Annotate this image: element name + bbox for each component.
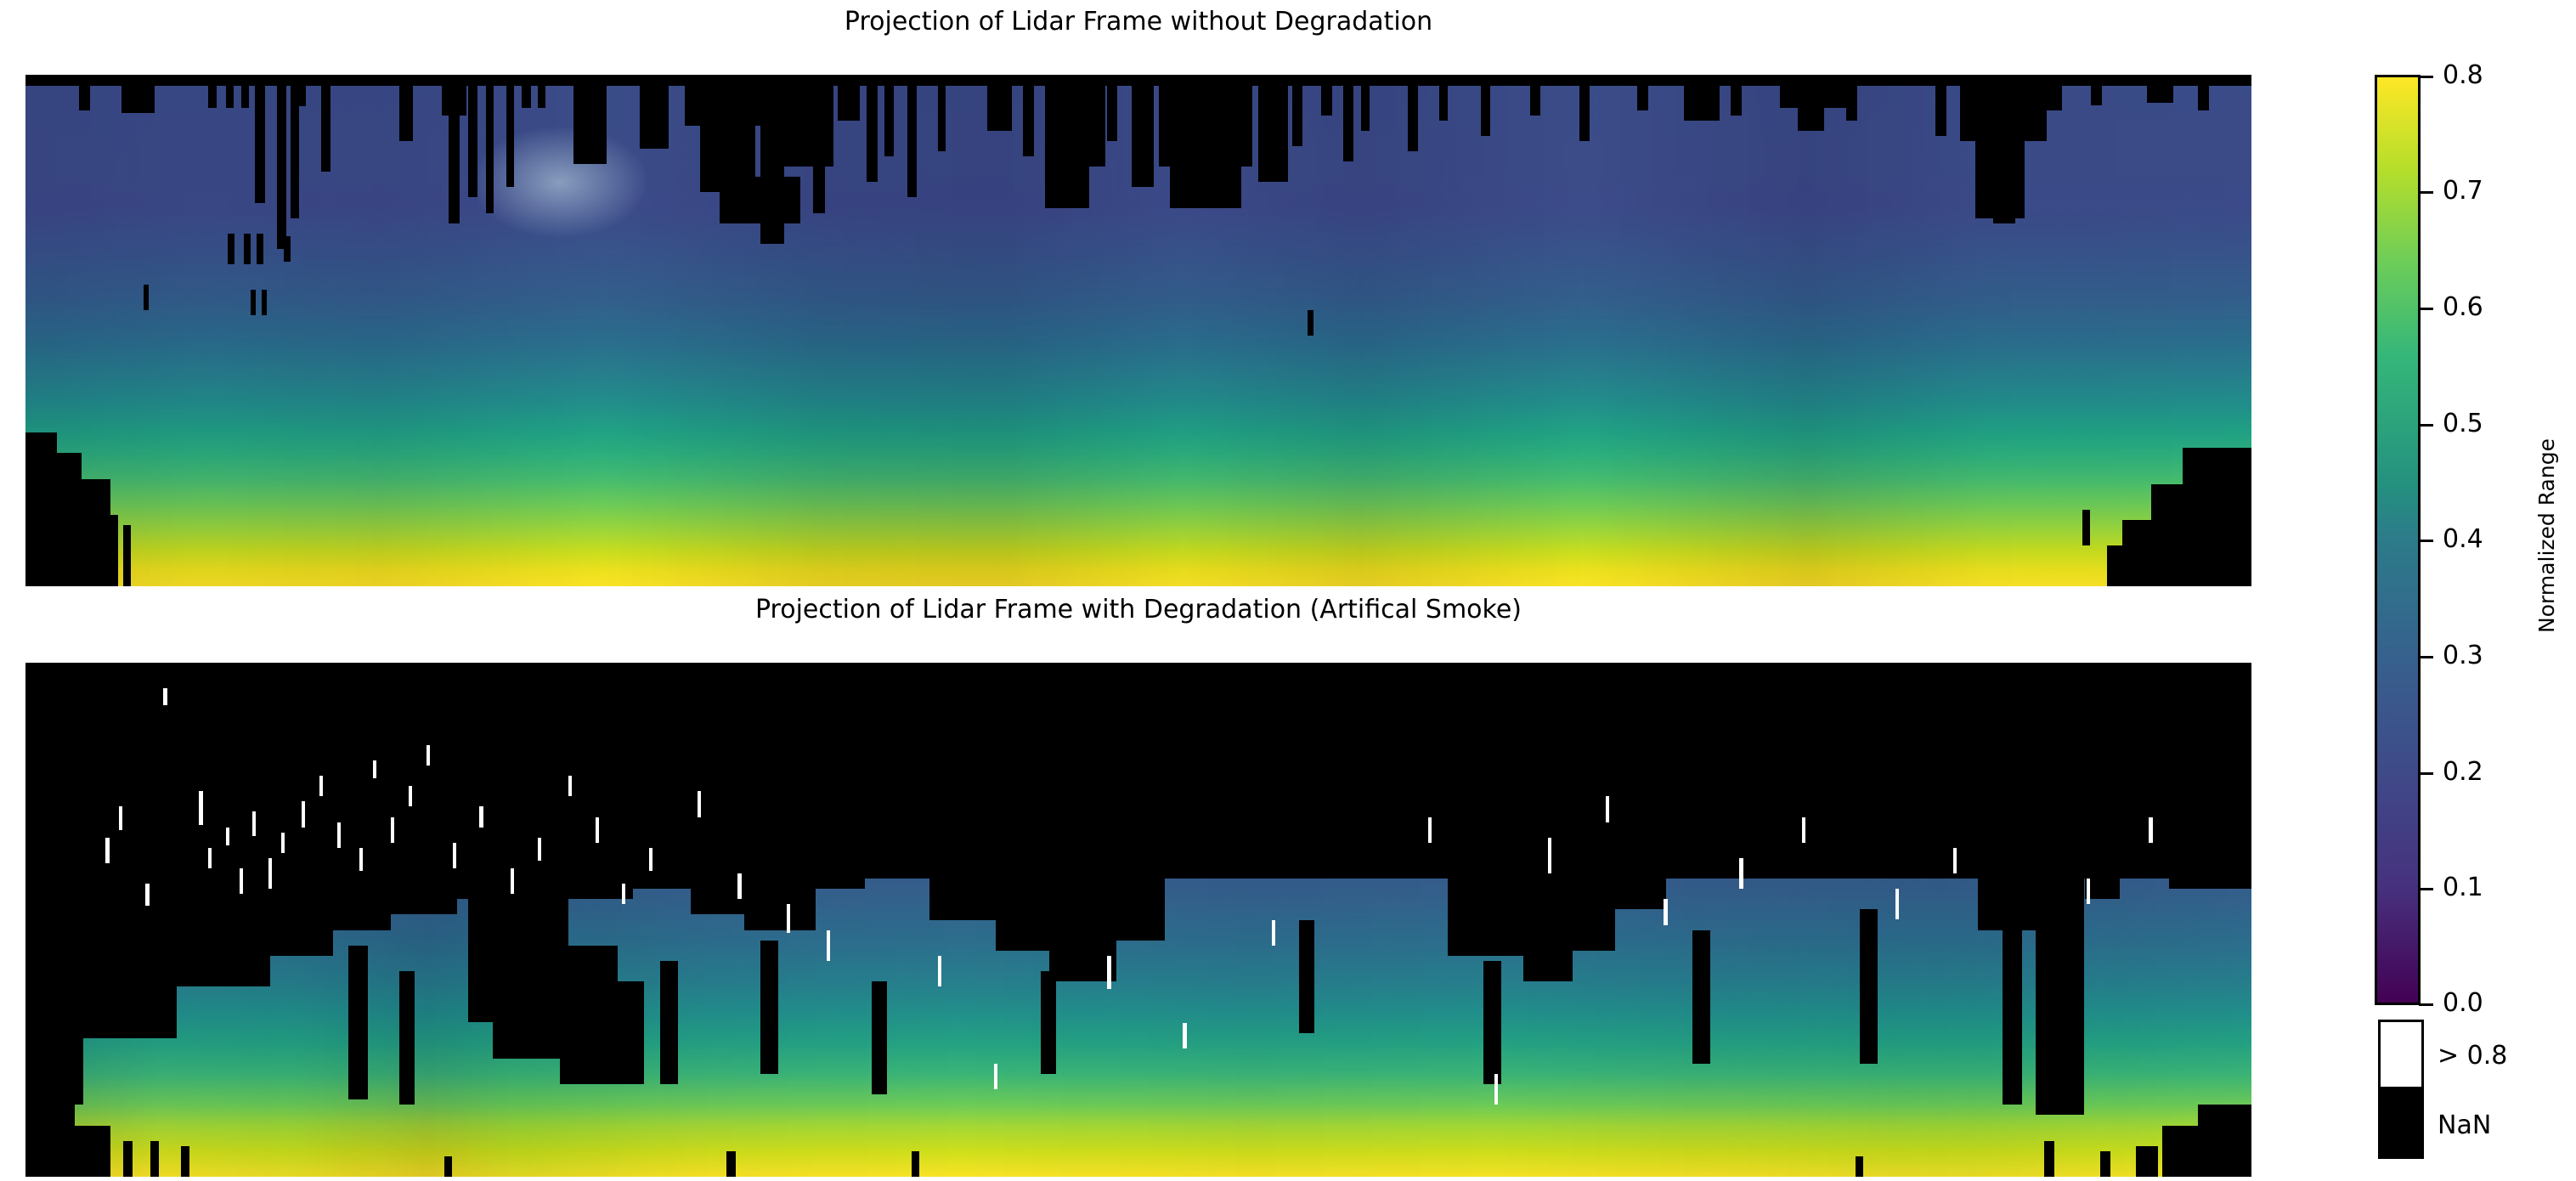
nan-region [700,75,756,192]
nan-region [640,75,669,149]
nan-region [121,75,155,113]
nan-region [1116,663,1166,941]
over-range-speckle [938,956,941,986]
colorbar-tick [2419,772,2433,775]
nan-region [744,663,816,930]
nan-region [1448,663,1523,956]
nan-region [449,75,460,223]
nan-region [573,75,607,164]
nan-region [2120,663,2169,817]
nan-region [262,290,268,315]
nan-region [1339,663,1393,817]
nan-region [255,75,265,203]
nan-region [996,663,1049,951]
nan-region [228,234,234,264]
nan-region [726,1151,735,1177]
nan-region [2100,1151,2110,1177]
nan-region [1684,75,1720,121]
nan-region [1165,663,1205,879]
over-range-speckle [302,801,305,827]
over-range-speckle [994,1064,997,1089]
nan-region [912,1151,919,1177]
nan-region [1839,663,1884,817]
nan-region [1978,663,2036,930]
nan-region [867,75,878,182]
nan-region [884,75,893,156]
over-range-speckle [359,848,363,871]
over-range-speckle [453,843,456,868]
nan-region [1935,75,1946,136]
over-range-speckle [1606,796,1609,822]
colorbar-tick [2419,656,2433,658]
nan-region [2122,520,2154,586]
over-range-speckle [1107,956,1110,989]
nan-region [123,1141,132,1177]
over-range-speckle [1428,817,1432,843]
colorbar-tick [2419,76,2433,78]
nan-region [25,1105,75,1177]
nan-region [321,75,330,172]
nan-region [1483,961,1501,1084]
over-range-speckle [827,930,830,961]
colorbar-tick-label: 0.0 [2443,991,2483,1016]
over-range-speckle [409,786,412,806]
colorbar-tick-label: 0.2 [2443,760,2483,785]
nan-region [257,234,263,264]
nan-region [150,1141,159,1177]
nan-region [987,75,1012,131]
nan-region [1579,75,1590,141]
nan-region [2107,545,2122,586]
axes-with-degradation[interactable] [25,663,2251,1177]
nan-region [1170,156,1241,207]
nan-region [1439,75,1448,121]
nan-region [1666,663,1713,858]
nan-region [399,971,415,1105]
nan-region [348,946,369,1100]
over-range-speckle [240,868,244,894]
nan-region [1308,310,1313,336]
nan-region [1408,75,1418,151]
over-range-speckle [596,817,599,843]
nan-region [1292,75,1302,146]
nan-region [813,75,824,213]
nan-region [486,75,494,213]
legend-label-nan: NaN [2438,1113,2491,1139]
nan-region [83,663,177,1038]
over-range-speckle [538,838,541,861]
nan-region [2151,484,2184,586]
over-range-speckle [163,688,167,704]
nan-region [1343,75,1353,161]
nan-region [82,479,110,586]
over-range-speckle [199,791,203,824]
nan-region [1081,75,1105,167]
over-range-speckle [427,745,430,766]
over-range-speckle [737,873,741,899]
nan-region [241,75,249,108]
axes-without-degradation[interactable] [25,75,2251,586]
nan-region [1041,971,1056,1074]
over-range-speckle [337,822,341,848]
nan-region [1132,75,1154,187]
nan-region [2198,75,2209,110]
nan-region [333,663,391,930]
nan-region [2036,663,2085,1115]
over-range-speckle [226,828,229,846]
nan-region [75,1126,110,1178]
nan-region [25,663,83,1105]
nan-region [1206,663,1284,822]
nan-region [907,75,918,197]
nan-region [1361,75,1370,131]
colorbar-tick-label: 0.8 [2443,63,2483,88]
nan-region [2169,663,2251,889]
over-range-speckle [649,848,652,871]
over-range-speckle [2087,879,2090,904]
over-range-speckle [391,817,394,843]
nan-region [2136,1146,2158,1177]
colorbar-axis-label: Normalized Range [2534,438,2559,633]
nan-region [929,663,997,920]
over-range-speckle [1802,817,1805,843]
nan-region [444,1156,452,1177]
over-range-speckle [119,806,122,829]
nan-region [244,234,251,264]
nan-region [1884,663,1929,786]
nan-region [2147,75,2173,103]
nan-region [2091,75,2102,105]
nan-region [838,75,860,121]
nan-region [1929,663,1978,828]
colorbar-tick [2419,540,2433,542]
colorbar-gradient [2375,75,2421,1005]
nan-region [1523,663,1573,981]
nan-region [277,75,285,249]
nan-region [284,236,291,262]
nan-region [567,663,634,899]
nan-region [1159,75,1252,167]
nan-region [1299,920,1314,1033]
nan-region [2162,1126,2198,1178]
nan-region [1530,75,1540,116]
panel-title-with-degradation: Projection of Lidar Frame with Degradati… [25,595,2251,625]
nan-region [691,663,744,914]
over-range-speckle [622,884,625,904]
nan-region [457,663,504,899]
nan-region [399,75,413,141]
nan-region [468,75,477,197]
nan-region [2198,1105,2251,1177]
nan-region [208,75,217,108]
nan-region [1023,75,1034,156]
figure-root: Projection of Lidar Frame without Degrad… [0,0,2576,1181]
nan-region [79,75,90,110]
nan-region [1637,75,1648,110]
nan-region [1321,75,1332,116]
nan-region [1773,663,1840,863]
nan-region [1107,75,1117,141]
over-range-speckle [208,848,212,868]
legend-swatch-over-range [2378,1020,2424,1089]
nan-region [1846,75,1857,121]
colorbar-tick-label: 0.4 [2443,527,2483,552]
panel-title-without-degradation: Projection of Lidar Frame without Degrad… [25,7,2251,37]
nan-region [504,663,566,889]
over-range-speckle [2149,817,2152,843]
nan-region [1258,75,1287,182]
colorbar-tick [2419,424,2433,427]
over-range-speckle [1895,889,1899,919]
over-range-speckle [479,806,483,827]
colorbar-tick [2419,308,2433,310]
nan-region [1860,909,1878,1064]
colorbar-tick [2419,888,2433,890]
nan-region [2183,448,2251,586]
nan-region [660,961,678,1084]
nan-region [938,75,946,151]
nan-region [1393,663,1449,879]
over-range-speckle [105,838,109,863]
over-range-speckle [252,811,256,836]
nan-region [25,432,57,463]
over-range-speckle [787,904,790,932]
nan-region [506,75,514,187]
nan-region [760,941,778,1074]
nan-region [1856,1156,1863,1177]
over-range-speckle [373,760,376,778]
over-range-speckle [1953,848,1957,873]
nan-region [1283,663,1339,786]
nan-region [760,75,785,244]
nan-region [291,75,299,218]
nan-region [1798,75,1824,131]
heatmap-bright-patch-top [471,126,649,238]
nan-region [865,663,929,879]
nan-region [226,75,234,108]
colorbar-tick-label: 0.3 [2443,643,2483,669]
nan-region [144,285,150,310]
nan-region [1692,930,1710,1064]
nan-region [251,290,257,315]
nan-region [1481,75,1489,136]
nan-region [538,75,545,108]
nan-region [1615,663,1666,909]
over-range-speckle [1548,838,1551,873]
colorbar-tick-label: 0.7 [2443,178,2483,204]
nan-region [177,663,270,986]
over-range-speckle [319,776,323,796]
nan-region [123,525,131,586]
nan-region [1993,187,2015,223]
over-range-speckle [1739,858,1743,889]
over-range-speckle [281,833,285,853]
over-range-speckle [698,791,701,817]
nan-region [2044,1141,2054,1177]
nan-region [2040,75,2062,110]
nan-region [2003,930,2023,1105]
colorbar-tick-label: 0.1 [2443,875,2483,901]
legend-swatch-nan [2378,1089,2424,1159]
colorbar-tick-label: 0.6 [2443,295,2483,320]
colorbar-tick [2419,1003,2433,1006]
over-range-speckle [268,858,272,889]
over-range-speckle [1272,920,1275,946]
nan-region [25,453,82,586]
nan-region [2085,663,2121,899]
colorbar-tick-label: 0.5 [2443,411,2483,437]
over-range-speckle [1183,1023,1186,1048]
nan-region [1731,75,1742,116]
nan-region [2082,510,2090,545]
over-range-speckle [1664,899,1667,924]
nan-region [872,981,887,1094]
over-range-speckle [1494,1074,1498,1105]
over-range-speckle [145,884,149,905]
legend: > 0.8 NaN [2375,1020,2570,1160]
nan-region [391,663,458,914]
over-range-speckle [511,868,514,894]
over-range-speckle [568,776,572,796]
colorbar-tick [2419,191,2433,194]
nan-region [816,663,865,889]
nan-region [1049,663,1116,981]
nan-region [560,981,645,1084]
nan-region [1713,663,1773,833]
nan-region [522,75,530,108]
nan-region [633,663,691,889]
nan-region [181,1146,189,1177]
colorbar [2375,75,2421,1005]
legend-label-over-range: > 0.8 [2438,1043,2507,1069]
nan-region [110,515,118,586]
